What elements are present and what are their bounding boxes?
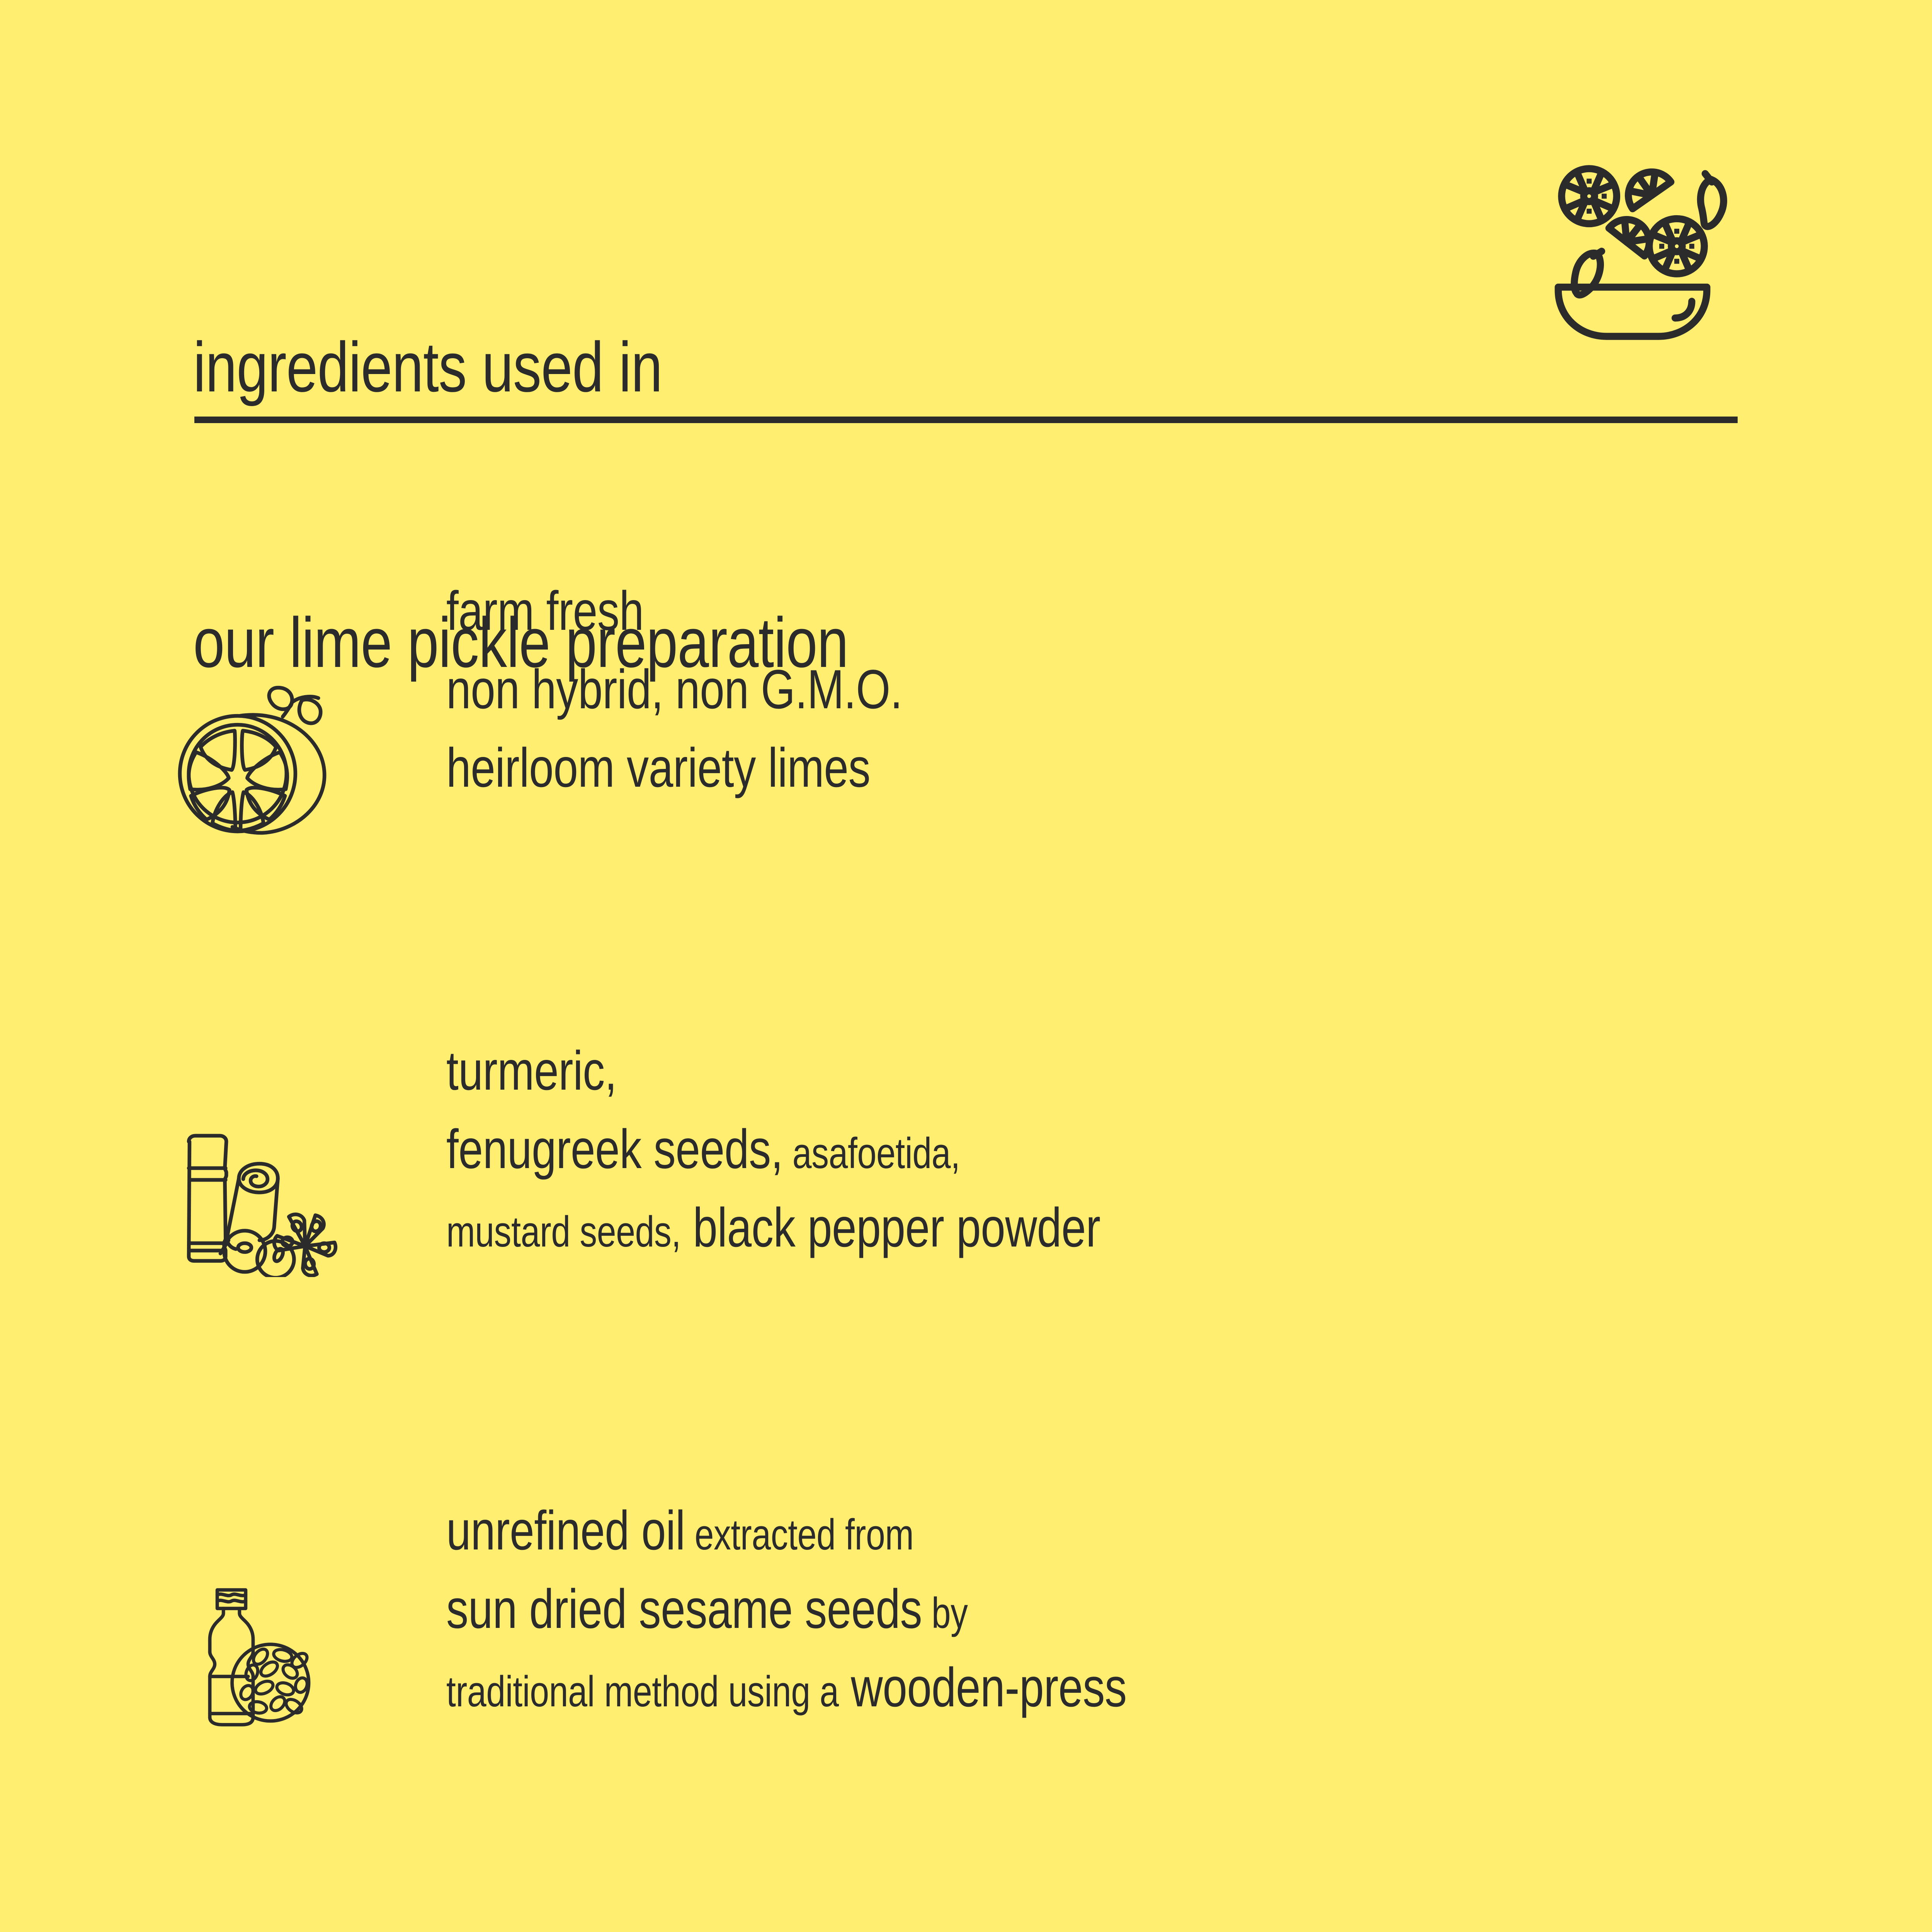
halved-lime-icon (160, 668, 340, 846)
ingredient-line: non hybrid, non G.M.O. (446, 658, 1559, 736)
oil-bottle-sesame-icon (191, 1582, 315, 1731)
ingredient-line: mustard seeds, black pepper powder (446, 1196, 1559, 1275)
page-title-line-1: ingredients used in (193, 321, 1182, 413)
header: ingredients used in our lime pickle prep… (0, 0, 1932, 456)
text-run: mustard seeds, (446, 1207, 681, 1256)
ingredient-section-oil: unrefined oil extracted from sun dried s… (0, 1499, 1932, 1847)
ingredient-line: sun dried sesame seeds by (446, 1578, 1559, 1656)
text-run: heirloom variety limes (446, 737, 870, 799)
ingredient-line: fenugreek seeds, asafoetida, (446, 1118, 1559, 1196)
ingredient-text-spices: turmeric, fenugreek seeds, asafoetida, m… (446, 1039, 1559, 1275)
text-run: fenugreek seeds, (446, 1119, 783, 1180)
text-run: turmeric, (446, 1040, 617, 1102)
text-run: non hybrid, non G.M.O. (446, 659, 902, 720)
ingredient-line: traditional method using a wooden-press (446, 1656, 1559, 1735)
bowl-with-lime-slices-icon (1528, 135, 1737, 344)
ingredient-text-limes: farm fresh non hybrid, non G.M.O. heirlo… (446, 580, 1559, 815)
ingredient-line: unrefined oil extracted from (446, 1499, 1559, 1578)
text-run: wooden-press (839, 1657, 1127, 1718)
text-run: asafoetida, (783, 1129, 960, 1177)
ingredient-text-oil: unrefined oil extracted from sun dried s… (446, 1499, 1559, 1735)
ingredient-section-limes: farm fresh non hybrid, non G.M.O. heirlo… (0, 580, 1932, 927)
text-run: sun dried sesame seeds (446, 1578, 922, 1640)
ingredient-line: turmeric, (446, 1039, 1559, 1118)
ingredient-line: heirloom variety limes (446, 736, 1559, 815)
header-divider (194, 417, 1738, 423)
text-run: by (922, 1589, 968, 1637)
text-run: unrefined oil (446, 1500, 685, 1561)
text-run: extracted from (685, 1510, 914, 1559)
spices-icon (166, 1122, 344, 1277)
text-run: black pepper powder (681, 1197, 1100, 1259)
ingredient-line: farm fresh (446, 580, 1559, 658)
ingredient-section-spices: turmeric, fenugreek seeds, asafoetida, m… (0, 1039, 1932, 1387)
text-run: traditional method using a (446, 1667, 839, 1716)
text-run: farm fresh (446, 580, 644, 642)
